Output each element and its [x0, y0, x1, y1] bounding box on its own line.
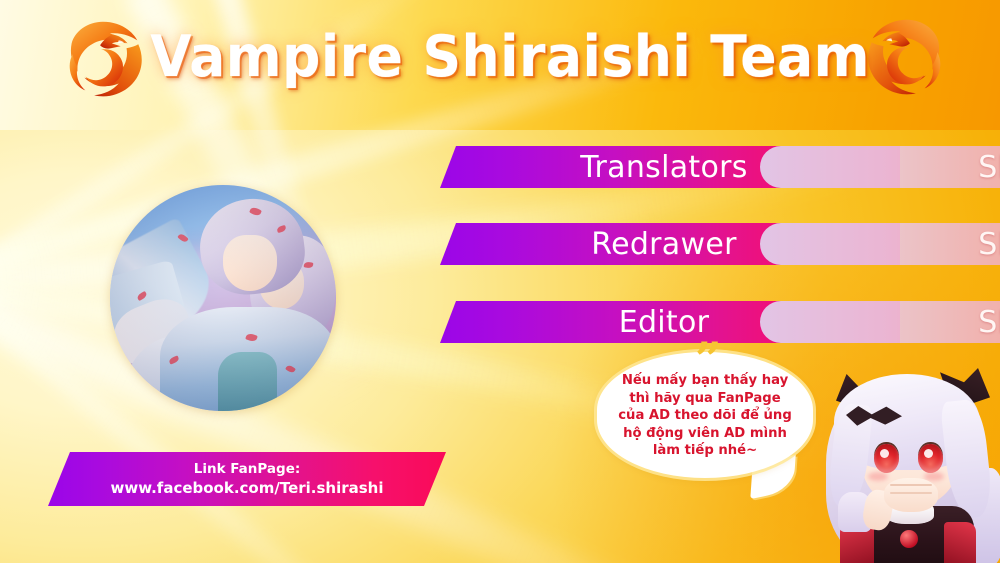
- speech-bubble: ” Nếu mấy bạn thấy hay thì hãy qua FanPa…: [597, 352, 813, 478]
- phoenix-icon: [48, 10, 158, 108]
- credit-name-label: Shiraishi: [760, 223, 1000, 265]
- chibi-blush-left: [868, 472, 888, 481]
- chibi-eye-left: [874, 444, 899, 473]
- artwork-vignette: [110, 185, 336, 411]
- speech-line: thì hãy qua FanPage: [629, 390, 780, 408]
- credit-name-label: Shiraishi: [760, 146, 1000, 188]
- speech-line: hộ động viên AD mình: [623, 425, 787, 443]
- speech-bubble-text: Nếu mấy bạn thấy hay thì hãy qua FanPage…: [605, 366, 805, 466]
- chibi-outfit-trim-right: [944, 522, 976, 563]
- chibi-mascot: [812, 358, 1000, 563]
- speech-line: của AD theo dõi để ủng: [618, 407, 792, 425]
- chibi-hands: [884, 478, 938, 512]
- speech-line: Nếu mấy bạn thấy hay: [622, 372, 788, 390]
- fanpage-link-banner[interactable]: Link FanPage: www.facebook.com/Teri.shir…: [48, 452, 446, 506]
- artwork-circle: [110, 185, 336, 411]
- fanpage-url[interactable]: www.facebook.com/Teri.shirashi: [110, 479, 383, 497]
- chibi-eye-right: [918, 444, 943, 473]
- fanpage-label: Link FanPage:: [194, 461, 301, 477]
- credit-row-redrawer[interactable]: Redrawer Shiraishi: [440, 223, 985, 265]
- speech-line: làm tiếp nhé~: [653, 442, 757, 460]
- credit-row-translators[interactable]: Translators Shiraishi: [440, 146, 985, 188]
- credits-banner: Vampire Shiraishi Team Translators Shira…: [0, 0, 1000, 563]
- fanpage-text: Link FanPage: www.facebook.com/Teri.shir…: [48, 452, 446, 506]
- page-title: Vampire Shiraishi Team: [200, 20, 820, 94]
- chibi-gem-icon: [900, 530, 918, 548]
- credit-name-label: Shiraishi: [760, 301, 1000, 343]
